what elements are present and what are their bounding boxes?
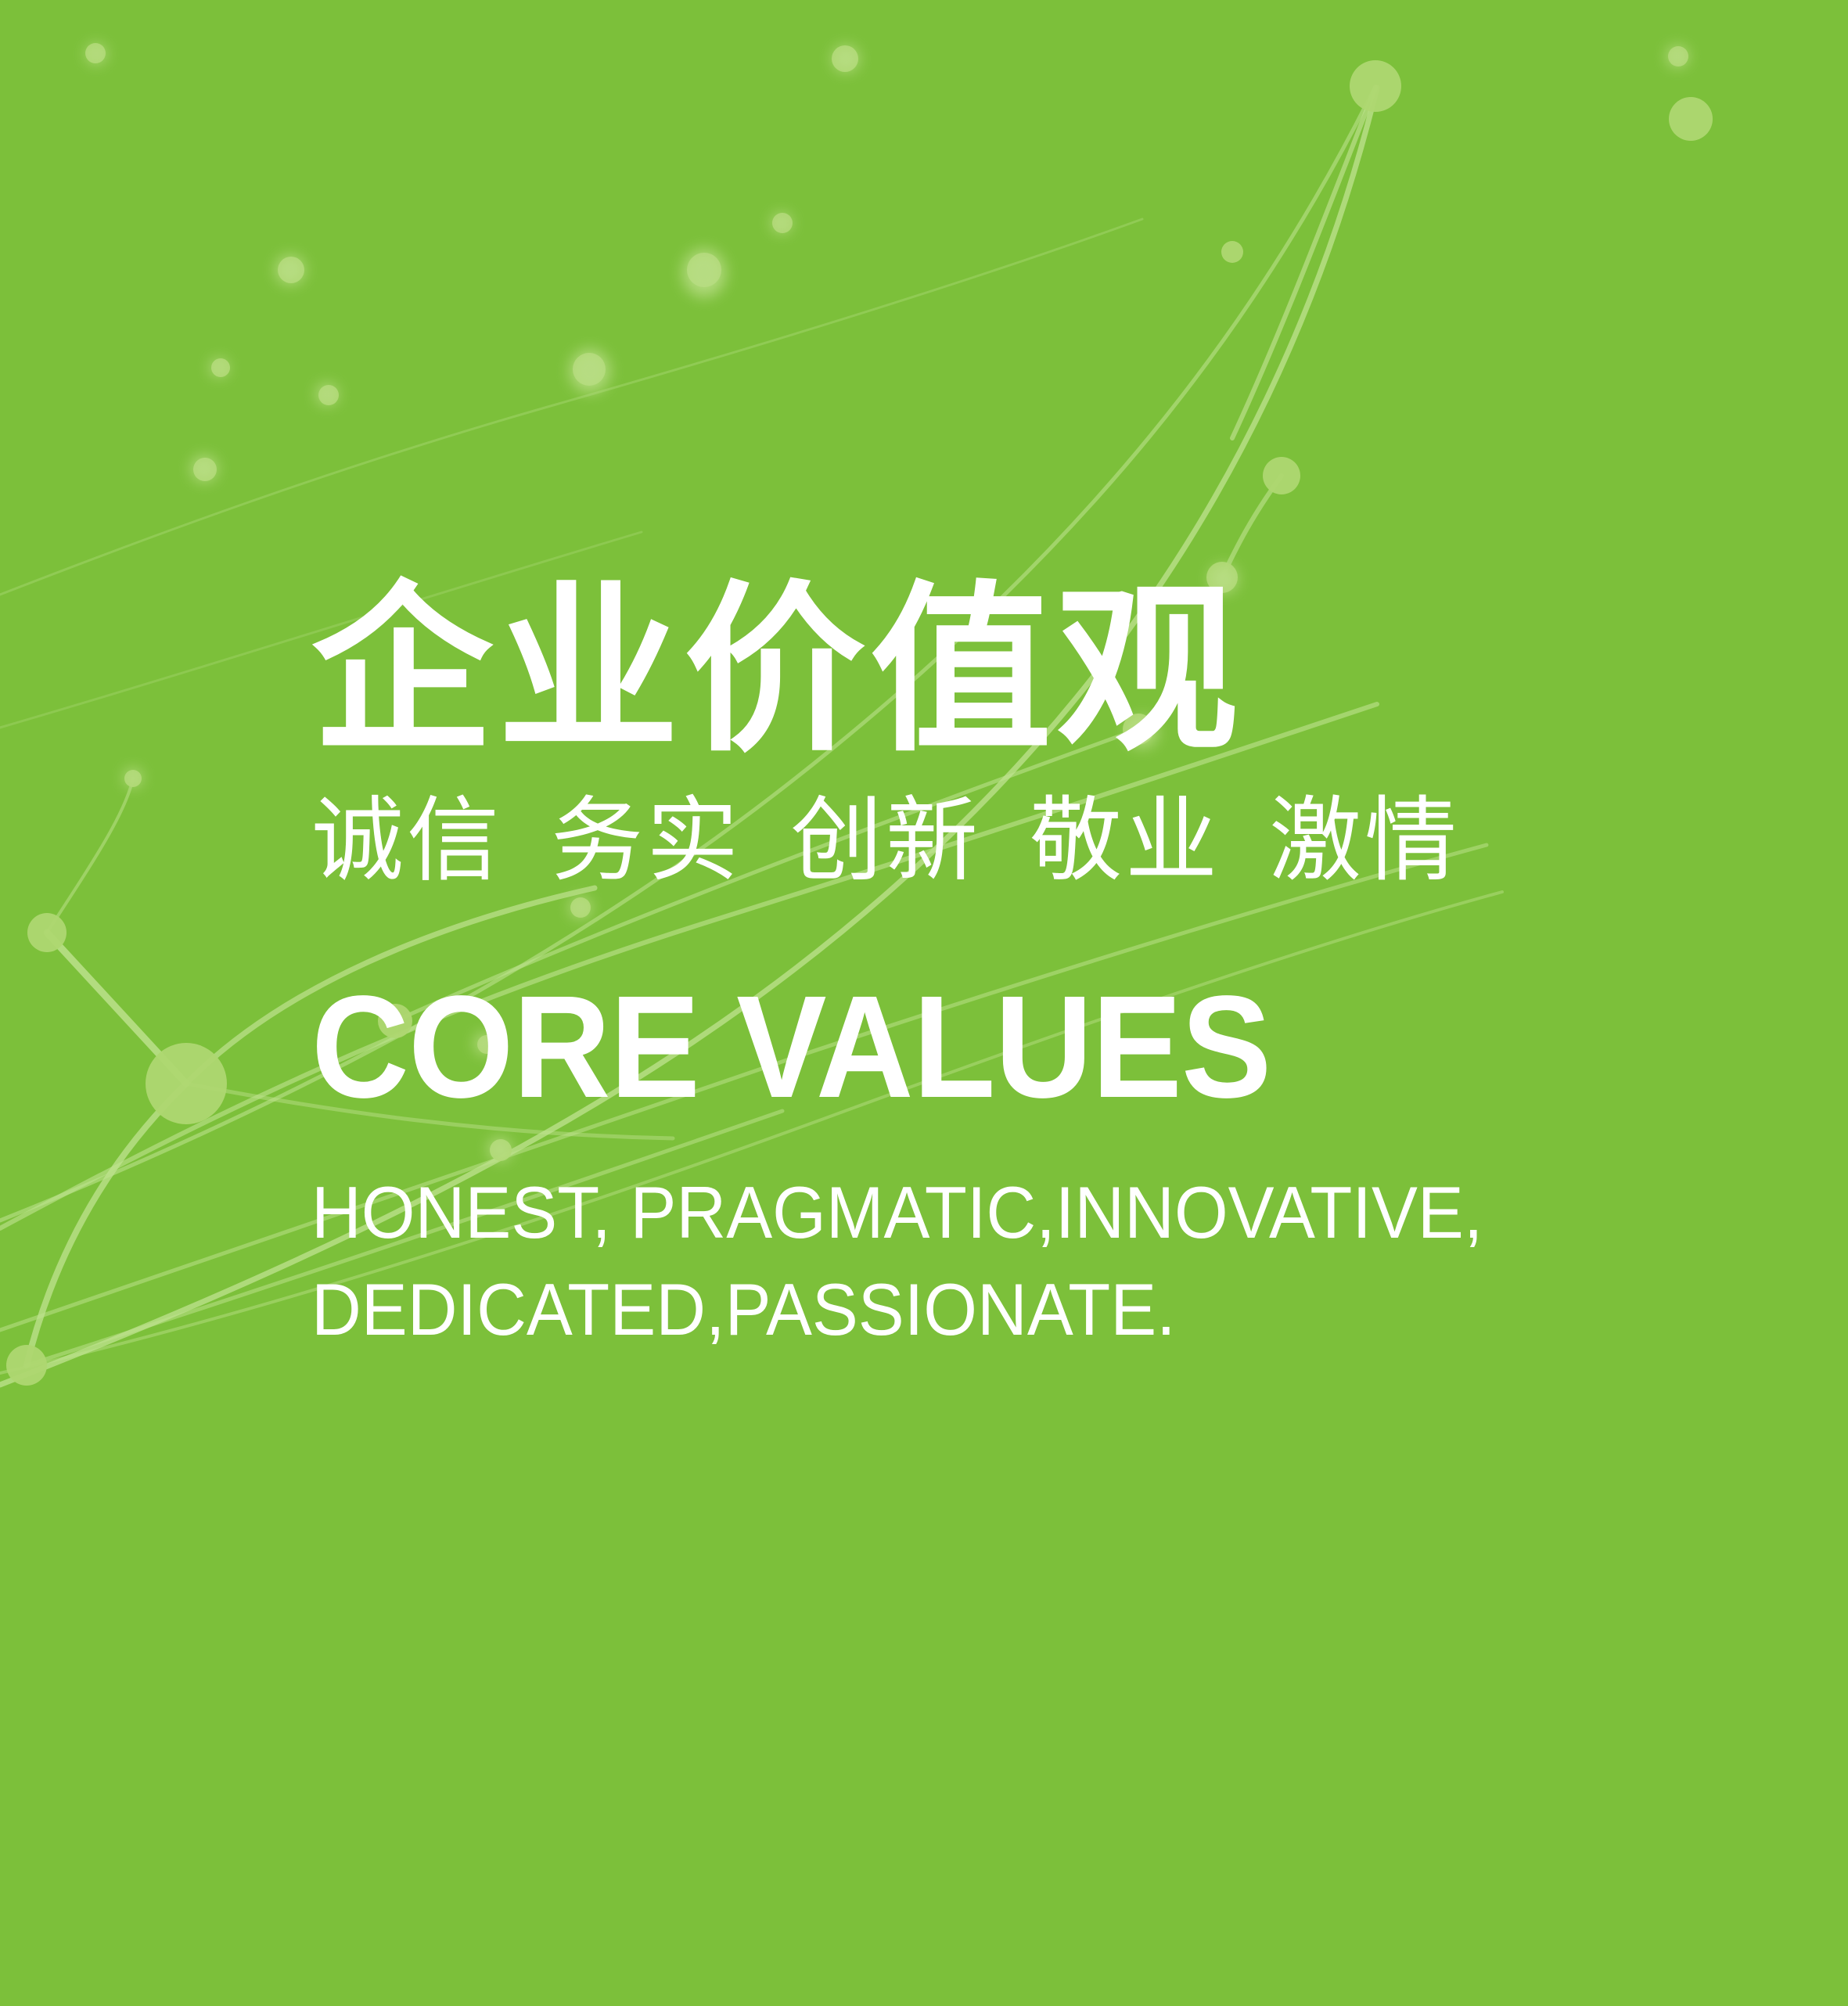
core-values-list-cjk: 诚信务实创新敬业激情: [311, 795, 1688, 887]
value-item-cjk-1: 诚信: [311, 789, 502, 893]
glow-blob: [191, 455, 218, 482]
glow-blob: [1666, 45, 1688, 67]
core-values-list-english: HONEST, PRAGMATIC,INNOVATIVE, DEDICATED,…: [311, 1164, 1605, 1358]
english-body-line-2: DEDICATED,PASSIONATE.: [311, 1261, 1605, 1358]
value-item-cjk-4: 敬业: [1030, 789, 1221, 893]
text-content-block: 企业价值观 诚信务实创新敬业激情 CORE VALUES HONEST, PRA…: [311, 581, 1688, 1358]
page-title-english: CORE VALUES: [311, 975, 1592, 1120]
glow-blob: [275, 255, 305, 285]
glow-blob: [316, 383, 338, 405]
glow-blob: [86, 44, 106, 64]
glow-blob: [771, 213, 792, 233]
page-title-cjk: 企业价值观: [311, 581, 1688, 762]
glow-blob: [124, 768, 142, 787]
glow-blob: [832, 45, 859, 72]
value-item-cjk-5: 激情: [1269, 789, 1460, 893]
english-body-line-1: HONEST, PRAGMATIC,INNOVATIVE,: [311, 1164, 1605, 1261]
glow-blob: [570, 349, 610, 393]
glow-blob: [682, 249, 726, 297]
value-item-cjk-3: 创新: [790, 789, 981, 893]
glow-blob: [210, 358, 228, 377]
value-item-cjk-2: 务实: [551, 789, 742, 893]
core-values-poster: 企业价值观 诚信务实创新敬业激情 CORE VALUES HONEST, PRA…: [0, 0, 1848, 2006]
